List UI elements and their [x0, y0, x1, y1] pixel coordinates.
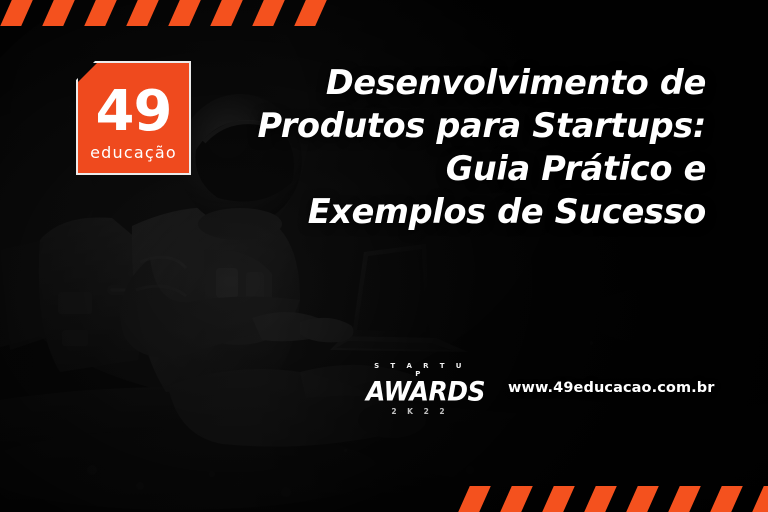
hazard-stripe [537, 486, 580, 512]
hazard-stripe [663, 486, 706, 512]
hazard-stripe [121, 0, 164, 26]
hazard-stripe [163, 0, 206, 26]
website-url[interactable]: www.49educacao.com.br [508, 380, 715, 396]
hazard-stripe [37, 0, 80, 26]
headline-line-4: Exemplos de Sucesso [246, 191, 706, 234]
hazard-stripe [495, 486, 538, 512]
headline-line-3: Guia Prático e [246, 148, 706, 191]
headline-line-1: Desenvolvimento de [246, 62, 706, 105]
hazard-stripe [579, 486, 622, 512]
headline-line-2: Produtos para Startups: [246, 105, 706, 148]
hazard-stripe [289, 0, 332, 26]
hazard-stripe [705, 486, 748, 512]
hazard-stripe [621, 486, 664, 512]
headline: Desenvolvimento de Produtos para Startup… [246, 62, 706, 234]
startup-awards-logo: S T A R T U P AWARDS 2 K 2 2 [366, 362, 470, 406]
brand-logo-badge[interactable]: 49 educação [76, 61, 191, 175]
promo-banner: 49 educação Desenvolvimento de Produtos … [0, 0, 768, 512]
hazard-stripe [456, 486, 496, 512]
hazard-stripe [205, 0, 248, 26]
logo-number: 49 [96, 84, 172, 140]
awards-wordmark: AWARDS [366, 378, 470, 406]
hazard-stripe [0, 0, 38, 26]
hazard-stripes-bottom [456, 486, 768, 512]
hazard-stripe [79, 0, 122, 26]
hazard-stripes-top [0, 0, 335, 26]
hazard-stripe [747, 486, 768, 512]
hazard-stripe [247, 0, 290, 26]
awards-year-label: 2 K 2 2 [370, 407, 470, 416]
logo-wordmark: educação [90, 143, 177, 162]
